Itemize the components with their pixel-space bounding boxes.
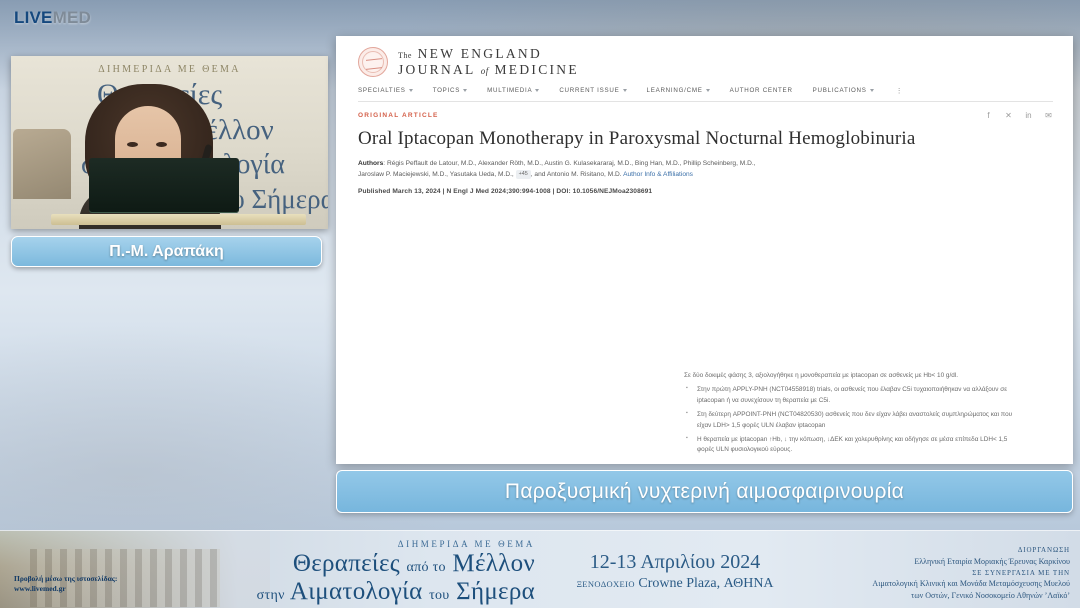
nav-label: MULTIMEDIA [487, 87, 532, 94]
footer-date: 12-13 Απριλίου 2024 [560, 551, 790, 574]
footer-line2-c: του [429, 588, 449, 603]
footer-coop-line2: των Οστών, Γενικό Νοσοκομείο Αθηνών ʼΛαϊ… [872, 590, 1070, 602]
chevron-down-icon [623, 89, 627, 92]
masthead-line1: NEW ENGLAND [418, 46, 542, 61]
logo-live-text: LIVE [14, 8, 53, 27]
nav-item-current-issue[interactable]: CURRENT ISSUE [559, 87, 626, 94]
footer-coop-line1: Αιματολογική Κλινική και Μονάδα Μεταμόσχ… [872, 578, 1070, 590]
footer-coop-header: ΣΕ ΣΥΝΕΡΓΑΣΙΑ ΜΕ ΤΗΝ [872, 568, 1070, 579]
chevron-down-icon [706, 89, 710, 92]
speaker-video[interactable]: ΔΙΗΜΕΡΙΔΑ ΜΕ ΘΕΜΑ Θεραπείες από το Μέλλο… [11, 56, 328, 229]
nav-item-multimedia[interactable]: MULTIMEDIA [487, 87, 539, 94]
greek-lead: Σε δύο δοκιμές φάσης 3, αξιολογήθηκε η μ… [684, 371, 1014, 381]
article-kicker: ORIGINAL ARTICLE [358, 112, 439, 119]
nav-label: TOPICS [433, 87, 460, 94]
podium-ledge [51, 214, 306, 225]
nav-item-topics[interactable]: TOPICS [433, 87, 467, 94]
nejm-seal-icon [358, 47, 388, 77]
footer-odeon-photo [0, 531, 270, 608]
nav-label: PUBLICATIONS [813, 87, 867, 94]
video-banner-kicker: ΔΙΗΜΕΡΙΔΑ ΜΕ ΘΕΜΑ [11, 64, 328, 75]
footer-kicker: ΔΙΗΜΕΡΙΔΑ ΜΕ ΘΕΜΑ [255, 539, 535, 549]
email-icon[interactable]: ✉ [1044, 111, 1053, 120]
x-twitter-icon[interactable]: ✕ [1004, 111, 1013, 120]
conference-footer: Προβολή μέσω της ιστοσελίδας: www.liveme… [0, 530, 1080, 608]
authors-block: Authors: Régis Peffault de Latour, M.D.,… [358, 159, 778, 180]
nejm-masthead[interactable]: The NEW ENGLAND JOURNAL of MEDICINE [358, 46, 1053, 78]
footer-event-title: ΔΙΗΜΕΡΙΔΑ ΜΕ ΘΕΜΑ Θεραπείες από το Μέλλο… [255, 539, 535, 606]
nejm-header: The NEW ENGLAND JOURNAL of MEDICINE SPEC… [336, 36, 1073, 195]
nav-label: CURRENT ISSUE [559, 87, 619, 94]
footer-line1-b: από το [407, 560, 446, 575]
footer-venue-prefix: ΞΕΝΟΔΟΧΕΙΟ [576, 579, 634, 589]
chevron-down-icon [870, 89, 874, 92]
footer-projection-label: Προβολή μέσω της ιστοσελίδας: [14, 574, 117, 584]
authors-more-badge[interactable]: +45 [516, 170, 531, 179]
social-share-group[interactable]: f ✕ in ✉ [984, 111, 1053, 120]
masthead-the: The [398, 51, 412, 60]
chevron-down-icon [463, 89, 467, 92]
masthead-of: of [481, 66, 489, 76]
nav-item-author-center[interactable]: AUTHOR CENTER [730, 87, 793, 94]
footer-url-block: Προβολή μέσω της ιστοσελίδας: www.liveme… [14, 574, 117, 594]
chevron-down-icon [409, 89, 413, 92]
footer-line1-c: Μέλλον [452, 550, 535, 577]
article-title: Oral Iptacopan Monotherapy in Paroxysmal… [358, 127, 1053, 151]
livemed-logo: LIVEMED [14, 8, 91, 28]
speaker-eye-right [156, 142, 167, 147]
footer-org-header: ΔΙΟΡΓΑΝΩΣΗ [872, 545, 1070, 556]
footer-date-venue: 12-13 Απριλίου 2024 ΞΕΝΟΔΟΧΕΙΟ Crowne Pl… [560, 551, 790, 592]
nejm-masthead-text: The NEW ENGLAND JOURNAL of MEDICINE [398, 46, 579, 78]
speaker-name-badge: Π.-Μ. Αραπάκη [11, 236, 322, 267]
nav-item-publications[interactable]: PUBLICATIONS [813, 87, 874, 94]
laptop [89, 158, 239, 213]
logo-med-text: MED [53, 8, 91, 27]
footer-organizers: ΔΙΟΡΓΑΝΩΣΗ Ελληνική Εταιρία Μοριακής Έρε… [872, 545, 1070, 602]
footer-org-name: Ελληνική Εταιρία Μοριακής Έρευνας Καρκίν… [872, 556, 1070, 568]
publication-meta: Published March 13, 2024 | N Engl J Med … [358, 188, 1053, 195]
facebook-icon[interactable]: f [984, 111, 993, 120]
footer-venue: Crowne Plaza, ΑΘΗΝΑ [638, 576, 773, 591]
footer-line2-b: Αιματολογία [290, 578, 423, 605]
nejm-navigation[interactable]: SPECIALTIES TOPICS MULTIMEDIA CURRENT IS… [358, 87, 1053, 102]
authors-label: Authors [358, 160, 383, 167]
list-item: Στην πρώτη APPLY-PNH (NCT04558918) trial… [684, 385, 1014, 406]
masthead-medicine: MEDICINE [495, 62, 579, 77]
footer-url[interactable]: www.livemed.gr [14, 584, 117, 594]
greek-summary: Σε δύο δοκιμές φάσης 3, αξιολογήθηκε η μ… [684, 371, 1014, 460]
greek-bullet-list: Στην πρώτη APPLY-PNH (NCT04558918) trial… [684, 385, 1014, 455]
list-item: Η θεραπεία με iptacopan ↑Hb, ↓ την κόπωσ… [684, 435, 1014, 456]
presentation-slide[interactable]: The NEW ENGLAND JOURNAL of MEDICINE SPEC… [336, 36, 1073, 464]
chevron-down-icon [535, 89, 539, 92]
ruin-decoration [13, 129, 71, 199]
list-item: Στη δεύτερη APPOINT-PNH (NCT04820530) ασ… [684, 410, 1014, 431]
slide-title-bar: Παροξυσμική νυχτερινή αιμοσφαιρινουρία [336, 470, 1073, 513]
masthead-journal: JOURNAL [398, 62, 475, 77]
author-info-link[interactable]: Author Info & Affiliations [623, 171, 693, 178]
nav-label: SPECIALTIES [358, 87, 406, 94]
footer-line2-d: Σήμερα [456, 578, 535, 605]
nav-label: LEARNING/CME [647, 87, 703, 94]
authors-text-tail: , and Antonio M. Risitano, M.D. [531, 171, 623, 178]
footer-line1-a: Θεραπείες [293, 550, 400, 577]
article-meta-row: ORIGINAL ARTICLE f ✕ in ✉ [358, 111, 1053, 120]
nav-overflow-icon[interactable]: ⋮ [896, 87, 903, 95]
linkedin-icon[interactable]: in [1024, 111, 1033, 120]
footer-line2-a: στην [257, 588, 285, 603]
speaker-eye-left [127, 142, 138, 147]
nav-label: AUTHOR CENTER [730, 87, 793, 94]
nav-item-specialties[interactable]: SPECIALTIES [358, 87, 413, 94]
nav-item-learning-cme[interactable]: LEARNING/CME [647, 87, 710, 94]
